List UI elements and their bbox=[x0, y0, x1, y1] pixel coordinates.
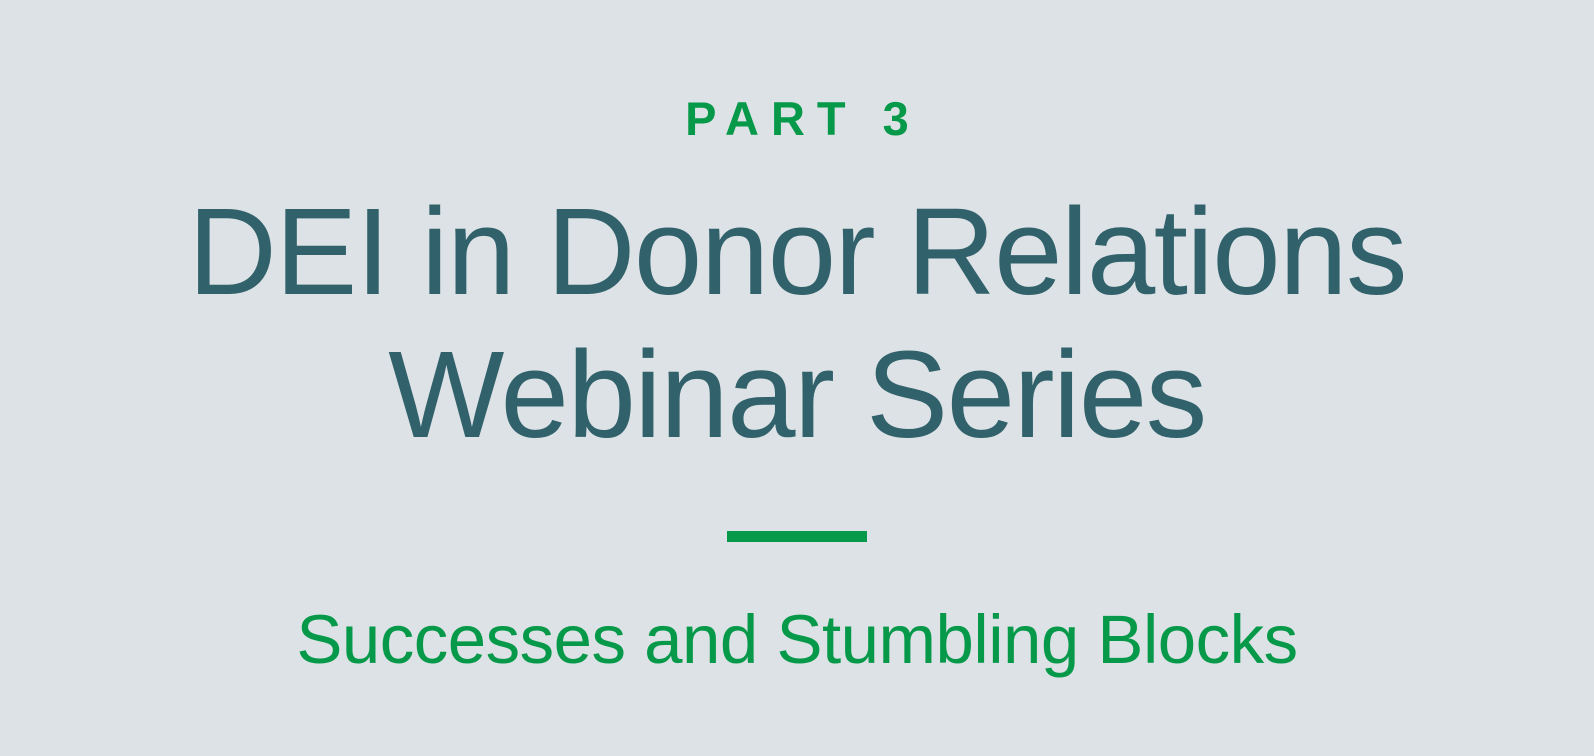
green-rule-divider bbox=[727, 531, 867, 542]
divider-container bbox=[0, 531, 1594, 542]
part-label: PART 3 bbox=[0, 95, 1594, 142]
slide-headline: DEI in Donor Relations Webinar Series bbox=[0, 181, 1594, 467]
headline-line-1: DEI in Donor Relations bbox=[0, 181, 1594, 324]
slide-subtitle: Successes and Stumbling Blocks bbox=[0, 598, 1594, 682]
headline-line-2: Webinar Series bbox=[0, 324, 1594, 467]
title-slide: PART 3 DEI in Donor Relations Webinar Se… bbox=[0, 0, 1594, 756]
